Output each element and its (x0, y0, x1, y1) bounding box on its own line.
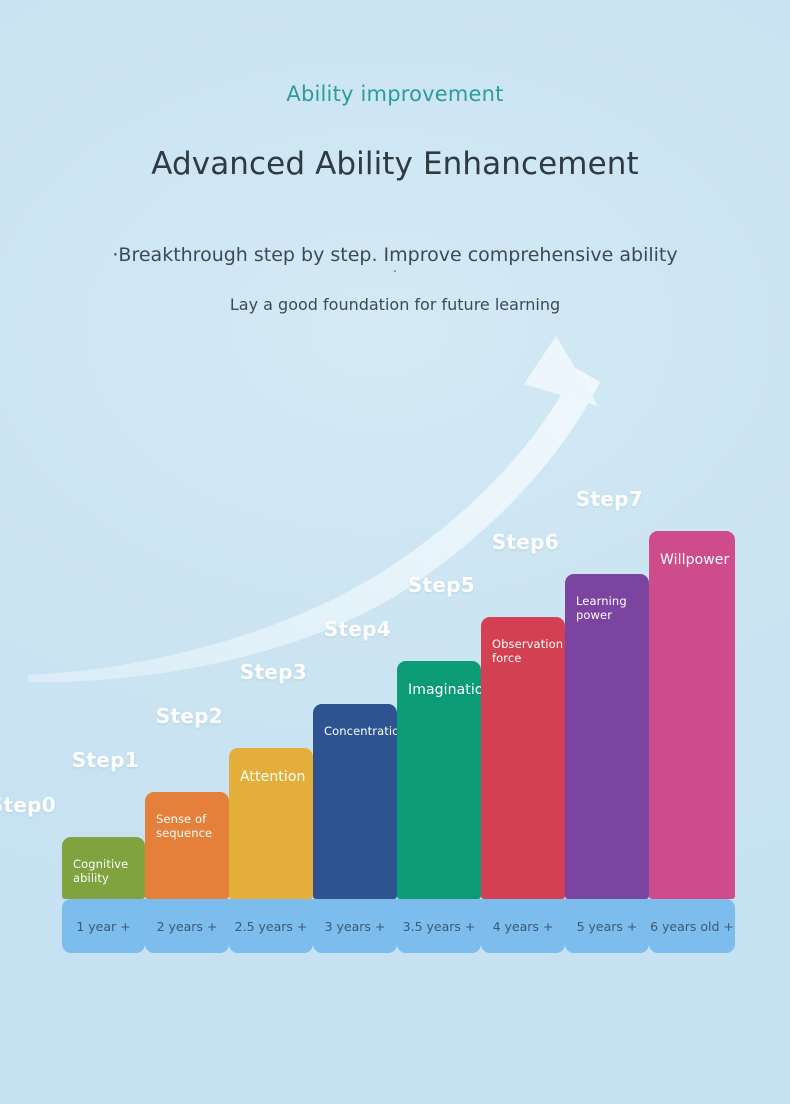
bar-step7[interactable]: Willpower (649, 531, 735, 899)
age-label-2: 2.5 years + (229, 899, 313, 953)
bar-step3[interactable]: Concentration (313, 704, 397, 899)
age-label-1: 2 years + (145, 899, 229, 953)
bar-ability-label: Imagination (408, 682, 473, 698)
bar-step1[interactable]: Sense of sequence (145, 792, 229, 899)
age-label-5: 4 years + (481, 899, 565, 953)
step-label-2: Step2 (151, 704, 223, 728)
step-label-1: Step1 (67, 748, 139, 772)
step-label-7: Step7 (571, 487, 643, 511)
age-label-0: 1 year + (62, 899, 145, 953)
step-label-3: Step3 (235, 660, 307, 684)
bar-ability-label: Observation force (492, 638, 557, 665)
age-label-7: 6 years old + (649, 899, 735, 953)
age-baseline-band: 1 year +2 years +2.5 years +3 years +3.5… (62, 899, 735, 953)
bar-step5[interactable]: Observation force (481, 617, 565, 899)
age-label-4: 3.5 years + (397, 899, 481, 953)
bar-ability-label: Willpower (660, 552, 727, 568)
bar-ability-label: Attention (240, 769, 305, 785)
infographic-canvas: Ability improvement Advanced Ability Enh… (0, 0, 790, 1104)
age-label-3: 3 years + (313, 899, 397, 953)
step-label-0: Step0 (0, 793, 56, 817)
bar-ability-label: Learning power (576, 595, 641, 622)
bar-ability-label: Sense of sequence (156, 813, 221, 840)
step-label-6: Step6 (487, 530, 559, 554)
bar-step0[interactable]: Cognitive ability (62, 837, 145, 899)
step-label-4: Step4 (319, 617, 391, 641)
bar-step4[interactable]: Imagination (397, 661, 481, 899)
bar-ability-label: Concentration (324, 725, 389, 739)
bar-step2[interactable]: Attention (229, 748, 313, 899)
step-label-5: Step5 (403, 573, 475, 597)
bar-ability-label: Cognitive ability (73, 858, 137, 885)
bar-step6[interactable]: Learning power (565, 574, 649, 899)
age-label-6: 5 years + (565, 899, 649, 953)
